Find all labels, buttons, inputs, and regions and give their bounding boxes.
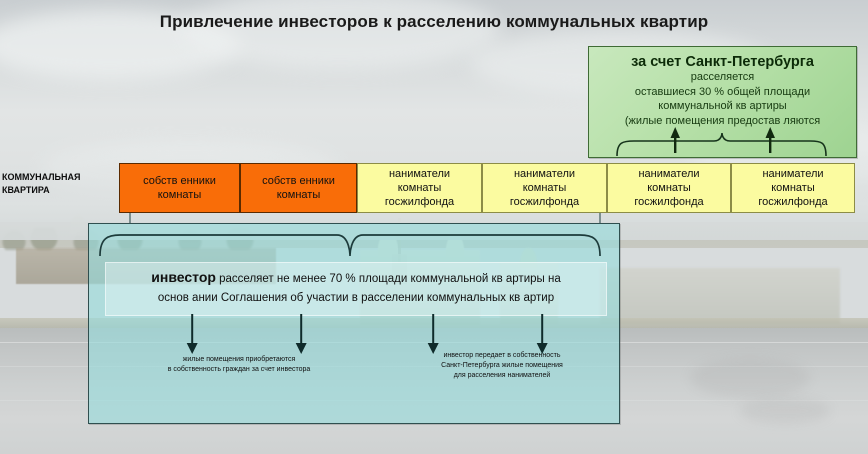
resident-cell-2-line-1: собств енники: [262, 174, 335, 188]
investor-statement-line2: основ ании Соглашения об участии в рассе…: [110, 289, 602, 308]
spb-line-4: (жилые помещения предостав ляются: [589, 114, 856, 129]
resident-cell-4-line-2: комнаты: [523, 181, 567, 195]
resident-cell-5: нанимателикомнатыгосжилфонда: [607, 163, 731, 213]
resident-cell-5-line-3: госжилфонда: [634, 195, 703, 209]
investor-statement: инвестор расселяет не менее 70 % площади…: [110, 268, 602, 308]
note-right: инвестор передает в собственностьСанкт-П…: [388, 351, 616, 381]
resident-cell-5-line-1: наниматели: [638, 167, 699, 181]
residents-row: собств енникикомнатысобств енникикомнаты…: [119, 163, 855, 213]
resident-cell-3: нанимателикомнатыгосжилфонда: [357, 163, 482, 213]
resident-cell-6: нанимателикомнатыгосжилфонда: [731, 163, 855, 213]
resident-cell-2-line-2: комнаты: [277, 188, 321, 202]
resident-cell-3-line-1: наниматели: [389, 167, 450, 181]
resident-cell-2: собств енникикомнаты: [240, 163, 357, 213]
resident-cell-1: собств енникикомнаты: [119, 163, 240, 213]
spb-funding-box: за счет Санкт-Петербурга расселяется ост…: [588, 46, 857, 158]
spb-line-1: расселяется: [589, 70, 856, 85]
investor-keyword: инвестор: [151, 269, 216, 285]
spb-line-3: коммунальной кв артиры: [589, 99, 856, 114]
resident-cell-3-line-3: госжилфонда: [385, 195, 454, 209]
note-left: жилые помещения приобретаютсяв собственн…: [128, 355, 350, 375]
resident-cell-4: нанимателикомнатыгосжилфонда: [482, 163, 607, 213]
spb-heading: за счет Санкт-Петербурга: [589, 54, 856, 70]
communal-flat-label: КОММУНАЛЬНАЯ КВАРТИРА: [2, 171, 112, 197]
resident-cell-1-line-1: собств енники: [143, 174, 216, 188]
resident-cell-5-line-2: комнаты: [647, 181, 691, 195]
resident-cell-6-line-1: наниматели: [762, 167, 823, 181]
resident-cell-3-line-2: комнаты: [398, 181, 442, 195]
resident-cell-6-line-3: госжилфонда: [758, 195, 827, 209]
investor-box: [88, 223, 620, 424]
spb-line-2: оставшиеся 30 % общей площади: [589, 85, 856, 100]
investor-statement-rest: расселяет не менее 70 % площади коммунал…: [216, 273, 561, 285]
resident-cell-1-line-2: комнаты: [158, 188, 202, 202]
resident-cell-6-line-2: комнаты: [771, 181, 815, 195]
resident-cell-4-line-3: госжилфонда: [510, 195, 579, 209]
resident-cell-4-line-1: наниматели: [514, 167, 575, 181]
page-title: Привлечение инвесторов к расселению комм…: [0, 12, 868, 32]
